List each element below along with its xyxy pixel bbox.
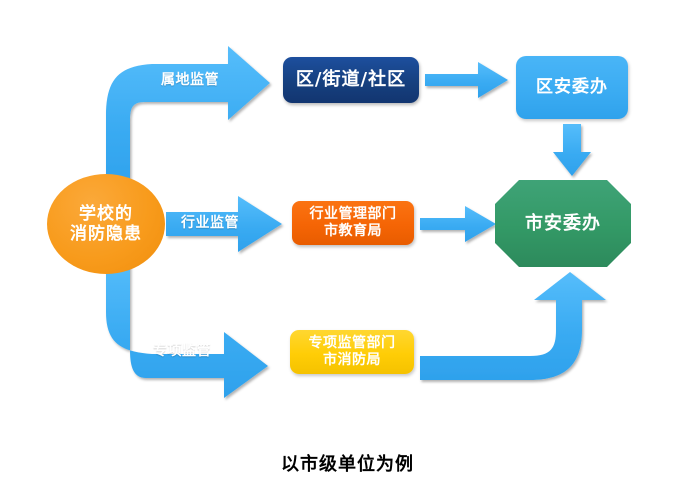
node-city-safety-committee-office[interactable]: 市安委办 (495, 180, 631, 267)
diagram-caption: 以市级单位为例 (0, 450, 695, 476)
node-special-supervision-department[interactable]: 专项监管部门 市消防局 (290, 330, 414, 374)
arrow-label-special-supervision: 专项监管 (153, 340, 211, 360)
node-district-safety-committee-office[interactable]: 区安委办 (516, 56, 628, 119)
arrow-special (106, 258, 268, 398)
node-industry-management-department[interactable]: 行业管理部门 市教育局 (292, 201, 414, 245)
arrow-label-territorial-supervision: 属地监管 (161, 69, 219, 89)
arrow-district-to-district-office (425, 62, 508, 98)
diagram-canvas: 学校的 消防隐患 区/街道/社区 区安委办 行业管理部门 市教育局 专项监管部门… (0, 0, 695, 489)
arrow-special-dept-to-city-office (420, 272, 606, 380)
node-district-street-community[interactable]: 区/街道/社区 (283, 57, 419, 103)
arrow-industry-dept-to-city-office (420, 206, 496, 242)
node-source-school-fire-hazard[interactable]: 学校的 消防隐患 (47, 174, 165, 274)
arrow-district-office-to-city-office (553, 124, 591, 176)
arrow-label-industry-supervision: 行业监管 (181, 212, 239, 232)
